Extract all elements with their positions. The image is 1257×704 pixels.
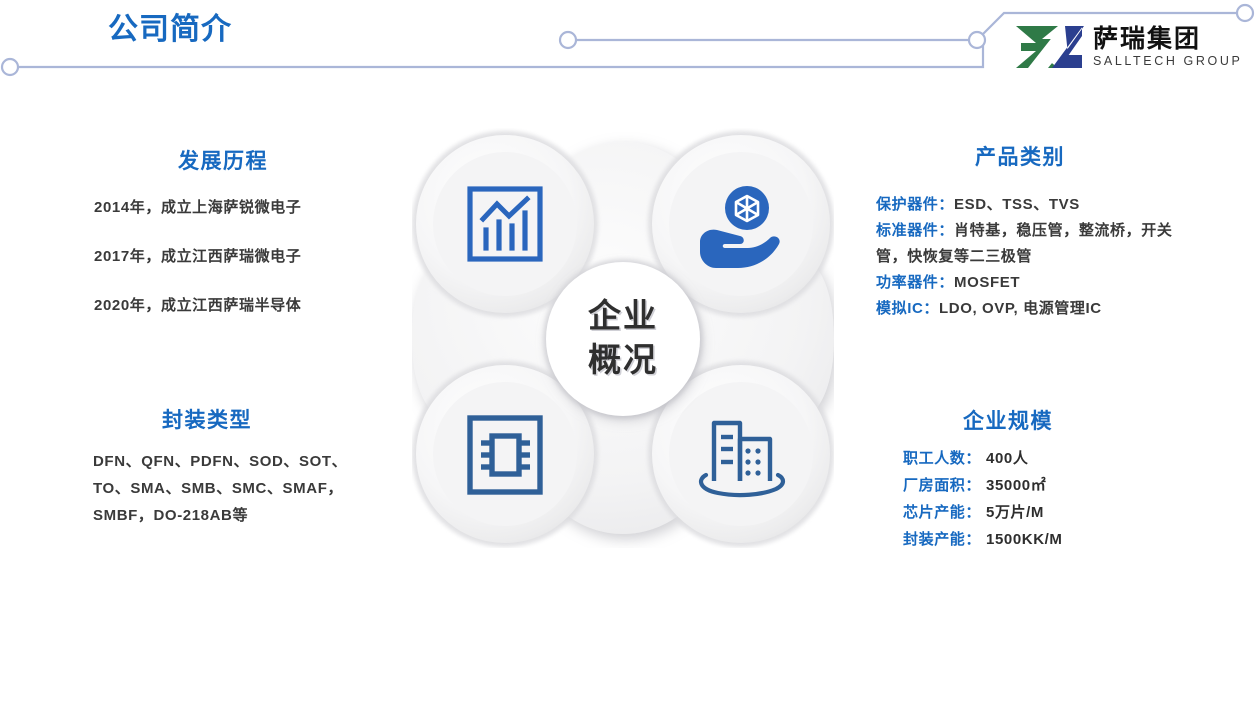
enterprise-overview-graphic: 企业 概况 — [412, 128, 834, 548]
page-title: 公司简介 — [108, 8, 232, 52]
development-line: 2017年，成立江西萨瑞微电子 — [94, 245, 394, 266]
scale-row: 封装产能： 1500KK/M — [903, 528, 1203, 549]
company-logo: 萨瑞集团 SALLTECH GROUP — [1012, 16, 1244, 78]
section-title-products: 产品类别 — [975, 141, 1065, 171]
product-value: ESD、TSS、TVS — [954, 196, 1080, 213]
deco-node-junction — [969, 32, 985, 48]
development-line: 2014年，成立上海萨锐微电子 — [94, 196, 394, 217]
scale-key: 封装产能： — [903, 528, 981, 549]
scale-value: 1500KK/M — [986, 531, 1063, 548]
scale-key: 厂房面积： — [903, 474, 981, 495]
section-title-package: 封装类型 — [162, 404, 252, 434]
scale-key: 职工人数： — [903, 447, 981, 468]
product-value: MOSFET — [954, 274, 1020, 291]
deco-node-left — [2, 59, 18, 75]
product-value: LDO, OVP, 电源管理IC — [939, 300, 1102, 317]
scale-row: 芯片产能： 5万片/M — [903, 501, 1203, 522]
logo-name-en: SALLTECH GROUP — [1093, 55, 1242, 68]
deco-node-mid — [560, 32, 576, 48]
development-line: 2020年，成立江西萨瑞半导体 — [94, 294, 394, 315]
section-body-products: 保护器件：ESD、TSS、TVS 标准器件：肖特基，稳压管，整流桥，开关管，快恢… — [876, 192, 1196, 322]
logo-name-cn: 萨瑞集团 — [1093, 26, 1242, 51]
section-body-scale: 职工人数： 400人 厂房面积： 35000㎡ 芯片产能： 5万片/M 封装产能… — [903, 447, 1203, 555]
section-body-development: 2014年，成立上海萨锐微电子 2017年，成立江西萨瑞微电子 2020年，成立… — [94, 196, 394, 315]
section-title-scale: 企业规模 — [963, 405, 1053, 435]
section-body-package: DFN、QFN、PDFN、SOD、SOT、TO、SMA、SMB、SMC、SMAF… — [93, 448, 353, 529]
scale-value: 400人 — [986, 447, 1028, 468]
scale-key: 芯片产能： — [903, 501, 981, 522]
product-key: 保护器件： — [876, 196, 954, 213]
section-title-development: 发展历程 — [178, 145, 268, 175]
scale-row: 厂房面积： 35000㎡ — [903, 474, 1203, 495]
center-hub — [543, 259, 703, 419]
scale-value: 35000㎡ — [986, 474, 1046, 495]
product-key: 模拟IC： — [876, 300, 939, 317]
product-key: 标准器件： — [876, 222, 954, 239]
product-key: 功率器件： — [876, 274, 954, 291]
salltech-logo-mark — [1012, 22, 1086, 72]
scale-row: 职工人数： 400人 — [903, 447, 1203, 468]
scale-value: 5万片/M — [986, 501, 1044, 522]
